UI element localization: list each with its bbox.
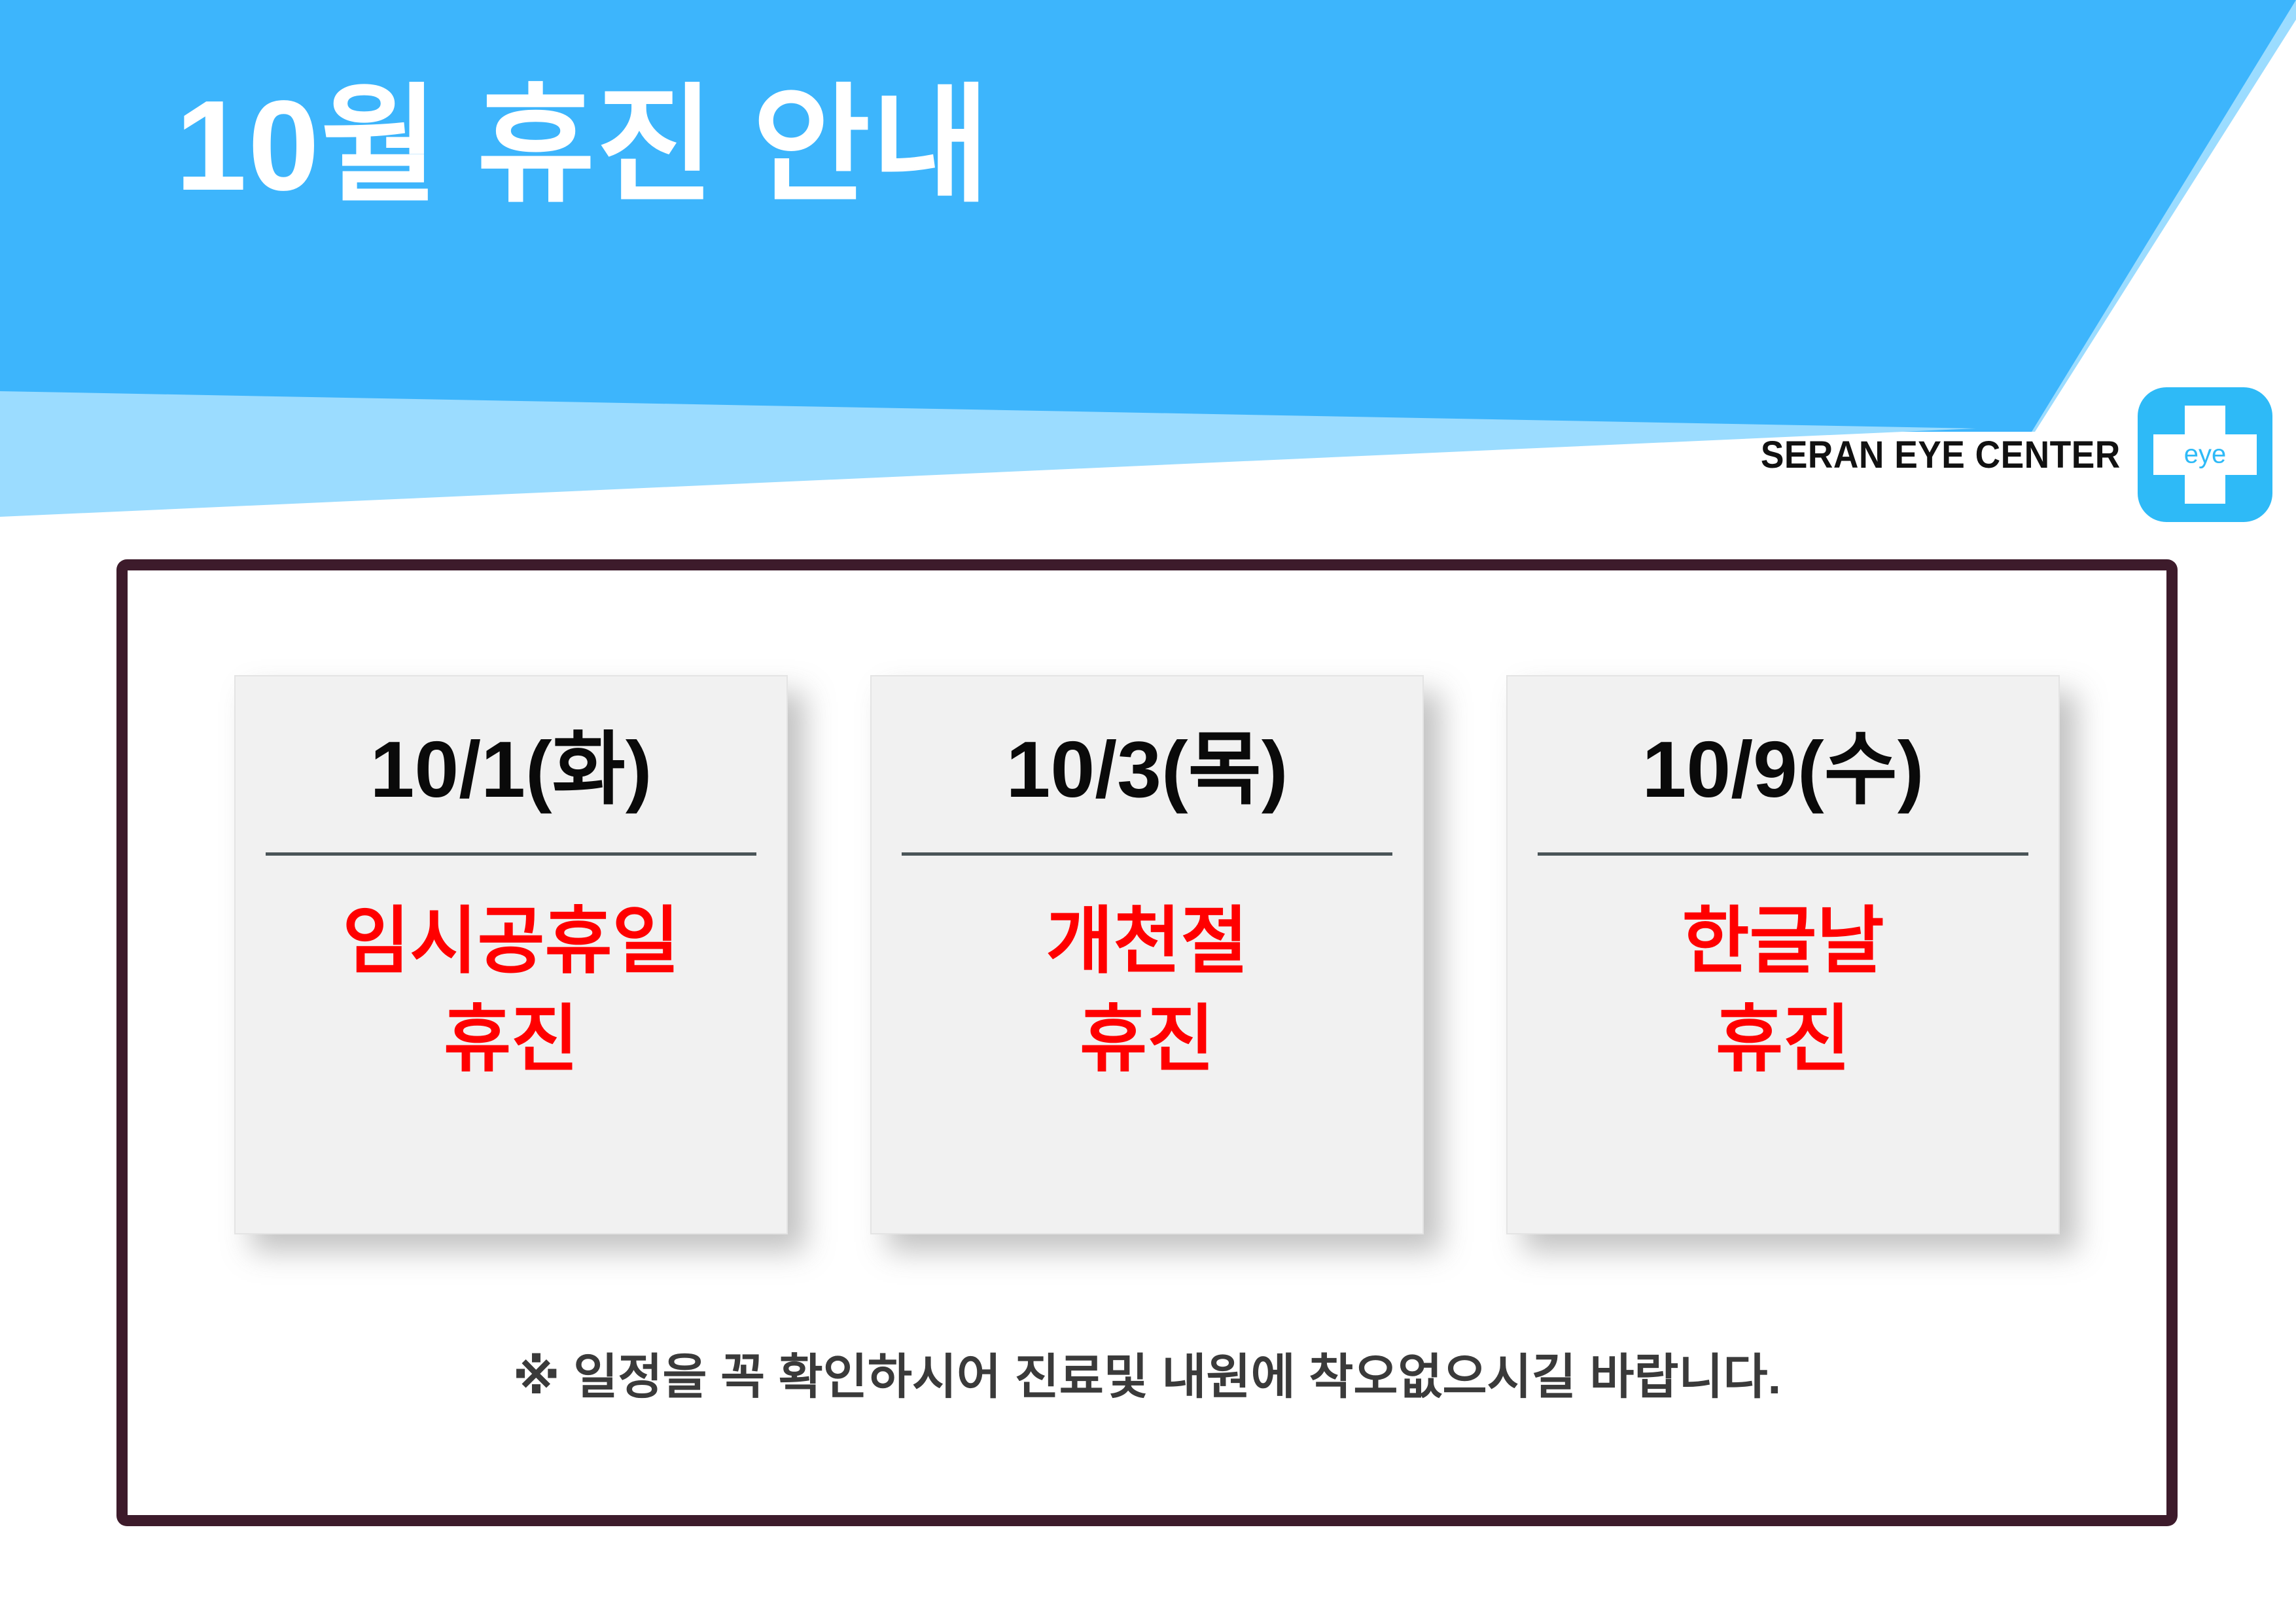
holiday-notice-poster: 10월 휴진 안내 SERAN EYE CENTER eye 10/1(화) 임… [0,0,2296,1623]
closure-status: 휴진 [444,990,578,1089]
logo-wordmark: eye [2138,440,2272,470]
closure-date: 10/9(수) [1642,725,1924,814]
closure-card: 10/9(수) 한글날 휴진 [1506,675,2060,1234]
closure-date: 10/1(화) [370,725,652,814]
closure-status: 휴진 [1716,990,1850,1089]
brand-lockup: SERAN EYE CENTER eye [1729,387,2272,522]
closure-card: 10/3(목) 개천절 휴진 [870,675,1424,1234]
card-divider [266,852,756,856]
closure-cards-row: 10/1(화) 임시공휴일 휴진 10/3(목) 개천절 휴진 10/9(수) … [128,675,2166,1234]
brand-name: SERAN EYE CENTER [1761,433,2121,477]
notice-panel: 10/1(화) 임시공휴일 휴진 10/3(목) 개천절 휴진 10/9(수) … [116,559,2178,1526]
closure-card: 10/1(화) 임시공휴일 휴진 [234,675,788,1234]
closure-status: 휴진 [1080,990,1214,1089]
clinic-logo-icon: eye [2138,387,2272,522]
notice-footnote: ※ 일정을 꼭 확인하시어 진료및 내원에 착오없으시길 바랍니다. [128,1338,2166,1408]
page-title: 10월 휴진 안내 [175,79,991,213]
closure-reason: 임시공휴일 [342,892,679,990]
closure-date: 10/3(목) [1006,725,1288,814]
card-divider [1538,852,2028,856]
card-divider [902,852,1392,856]
closure-reason: 개천절 [1046,892,1248,990]
closure-reason: 한글날 [1682,892,1884,990]
